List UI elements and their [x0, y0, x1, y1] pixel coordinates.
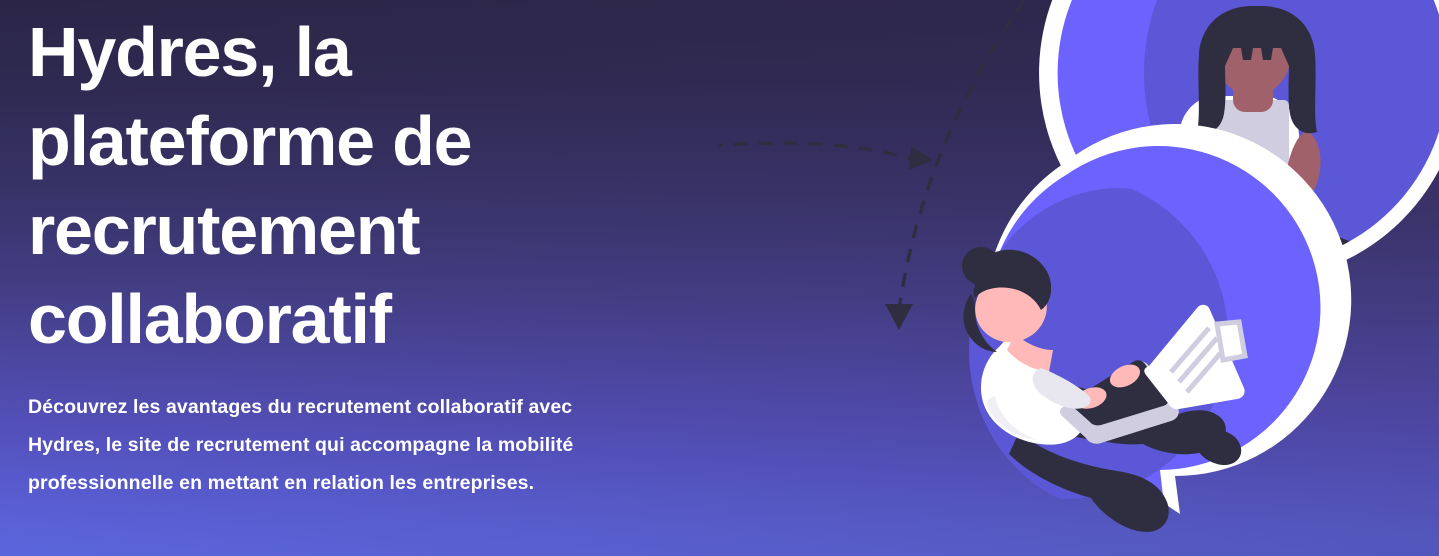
hero-text-column: Hydres, la plateforme de recrutement col… [28, 0, 688, 502]
dashed-arrow-into-top-bubble [719, 143, 933, 170]
hero-banner: Hydres, la plateforme de recrutement col… [0, 0, 1439, 556]
hero-subtitle: Découvrez les avantages du recrutement c… [28, 364, 640, 502]
person-hair-bun [962, 247, 1000, 285]
page-title: Hydres, la plateforme de recrutement col… [28, 0, 568, 364]
hero-illustration [719, 0, 1439, 556]
